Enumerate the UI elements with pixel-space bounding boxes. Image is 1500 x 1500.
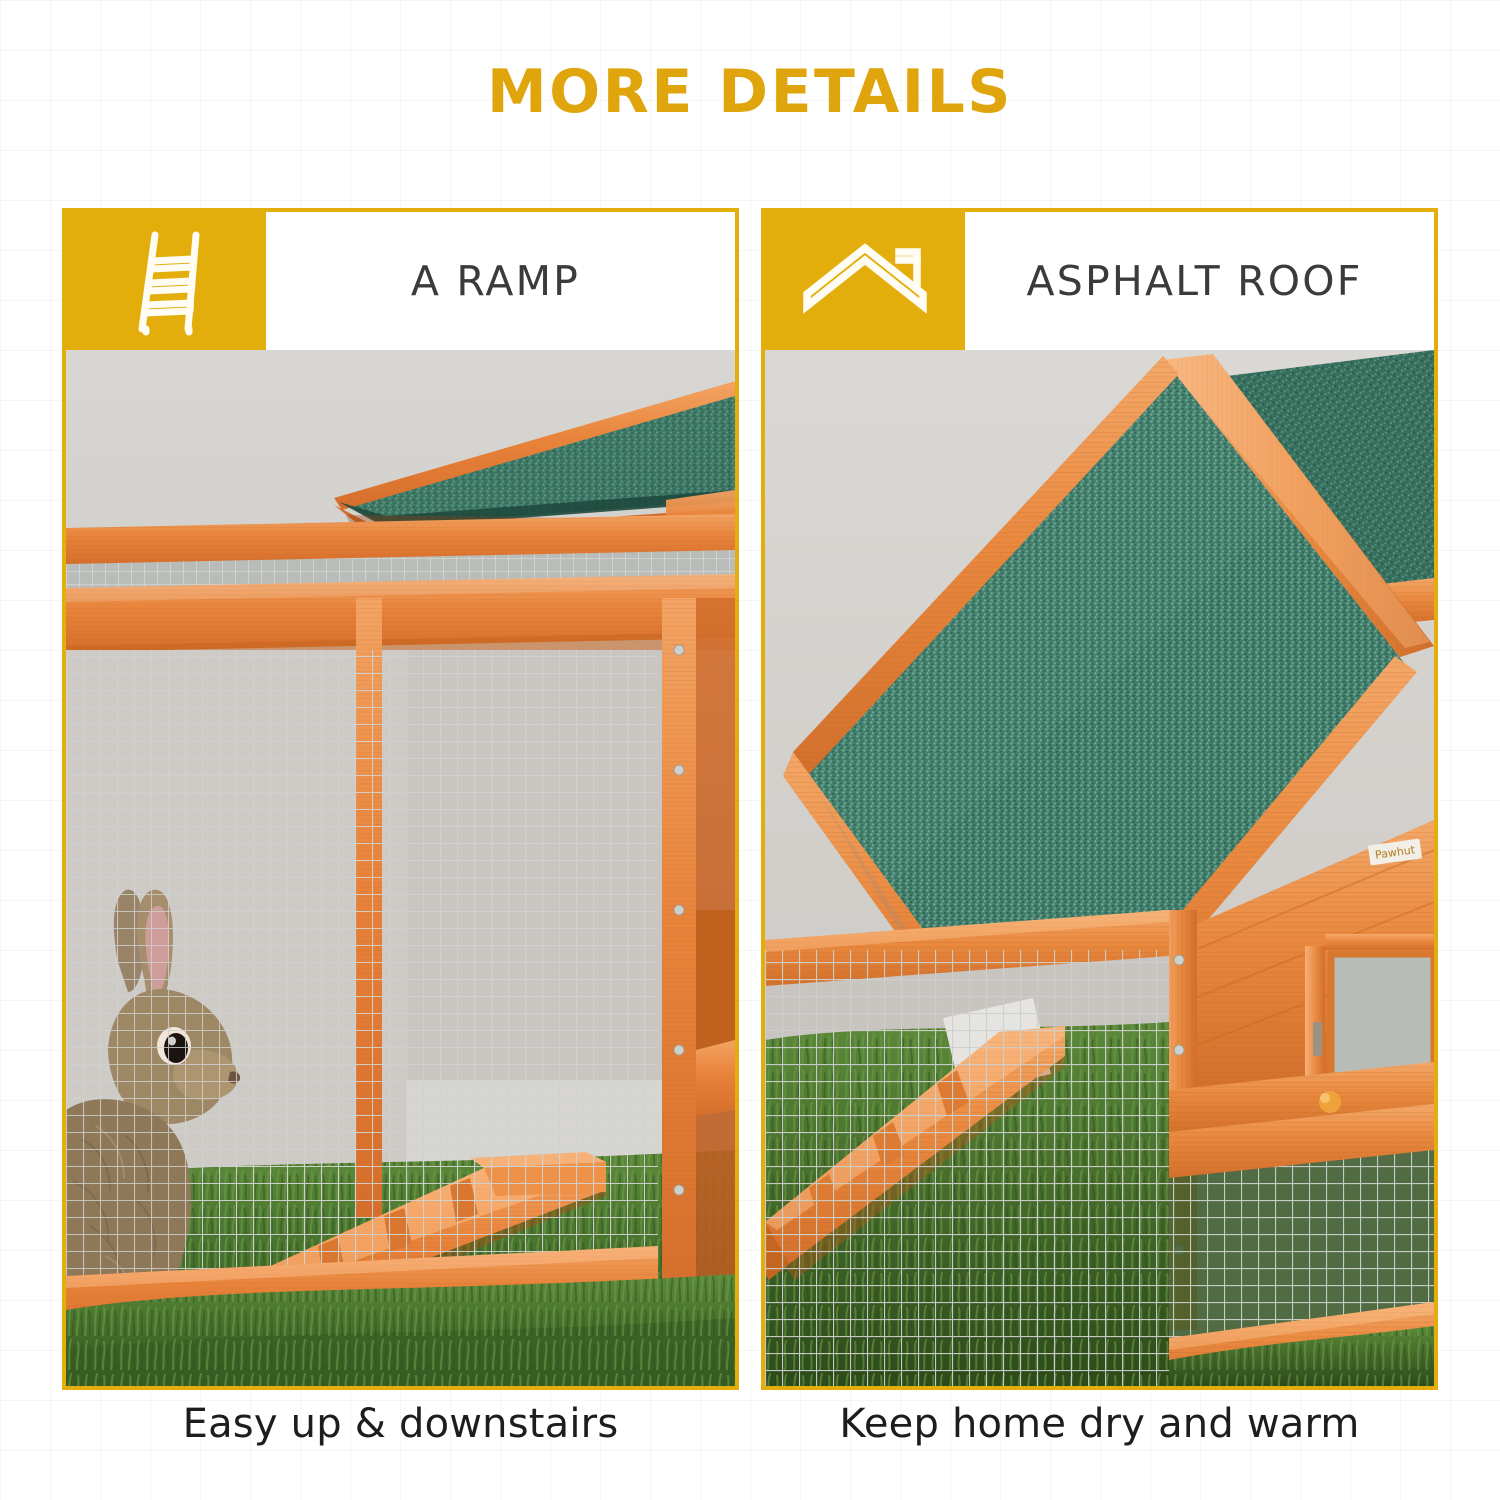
feature-caption-ramp: Easy up & downstairs [62,1404,739,1444]
feature-badge-asphalt-roof: ASPHALT ROOF [765,212,1434,350]
product-detail-page: MORE DETAILS [0,0,1500,1500]
feature-panel-ramp: A RAMP [62,208,739,1390]
feature-photo-asphalt-roof: Pawhut [765,350,1434,1386]
page-title: MORE DETAILS [0,62,1500,122]
feature-photo-ramp [66,350,735,1386]
feature-panel-asphalt-roof: ASPHALT ROOF [761,208,1438,1390]
roof-icon [765,212,965,350]
feature-badge-ramp: A RAMP [66,212,735,350]
feature-caption-asphalt-roof: Keep home dry and warm [761,1404,1438,1444]
ladder-icon [66,212,266,350]
feature-badge-label-asphalt-roof: ASPHALT ROOF [965,212,1434,350]
feature-badge-label-ramp: A RAMP [266,212,735,350]
